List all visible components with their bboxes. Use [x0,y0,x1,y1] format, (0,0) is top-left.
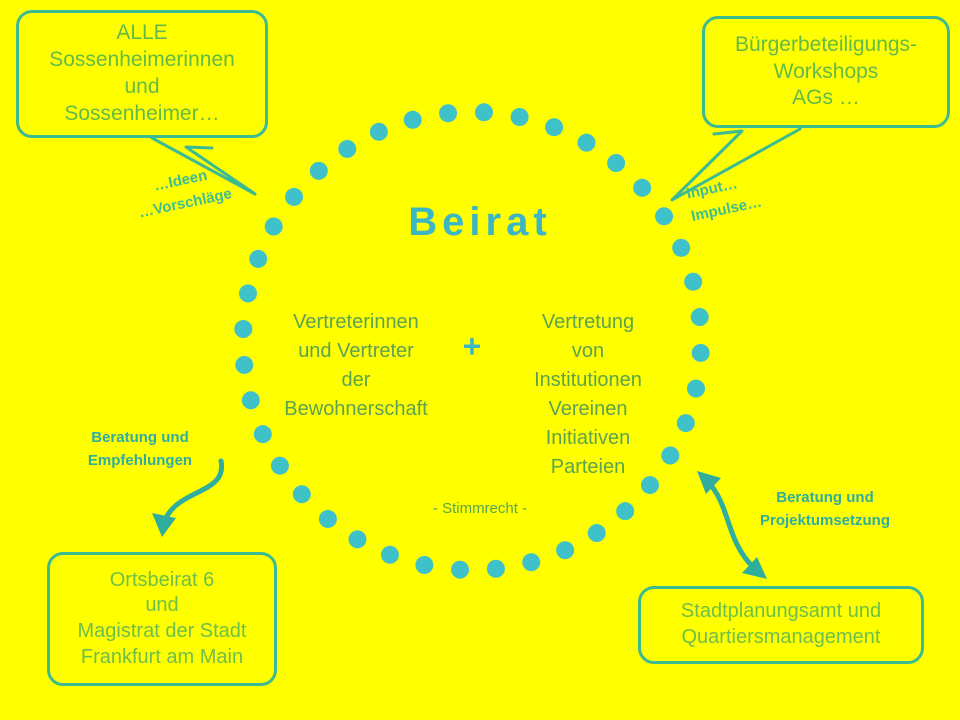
circle-dot [349,530,367,548]
arrow-beratung-projektumsetzung-head-down [742,557,767,579]
circle-dot [578,134,596,152]
circle-dot [511,108,529,126]
circle-dot [691,308,709,326]
callout-stadtplanung-text: Stadtplanungsamt und Quartiersmanagement [681,599,881,650]
circle-dot [370,123,388,141]
circle-dot [684,273,702,291]
circle-dot [254,425,272,443]
flow-label-beratung-empfehlungen: Beratung und Empfehlungen [70,427,210,472]
circle-dot [692,344,710,362]
circle-dot [381,546,399,564]
circle-dot [607,154,625,172]
callout-stadtplanungsamt[interactable]: Stadtplanungsamt und Quartiersmanagement [638,586,924,664]
circle-dot [239,284,257,302]
plus-icon: + [444,330,500,362]
circle-dot [522,553,540,571]
circle-dot [633,179,651,197]
diagram-canvas: ALLE Sossenheimerinnen und Sossenheimer…… [0,0,960,720]
circle-dot [404,111,422,129]
callout-ortsbeirat[interactable]: Ortsbeirat 6 und Magistrat der Stadt Fra… [47,552,277,686]
circle-dot [235,356,253,374]
circle-dot [234,320,252,338]
center-right-column: Vertretung von Institutionen Vereinen In… [500,308,676,482]
circle-dot [588,524,606,542]
circle-dot [451,561,469,579]
arrow-beratung-projektumsetzung-head-up [697,471,721,494]
circle-dot [415,556,433,574]
circle-dot [545,118,563,136]
callout-ortsbeirat-text: Ortsbeirat 6 und Magistrat der Stadt Fra… [78,568,247,670]
callout-workshops-text: Bürgerbeteiligungs- Workshops AGs … [735,32,917,113]
callout-alle-sossenheimer[interactable]: ALLE Sossenheimerinnen und Sossenheimer… [16,10,268,138]
circle-dot [487,560,505,578]
flow-label-beratung-projektumsetzung: Beratung und Projektumsetzung [740,487,910,532]
circle-dot [249,250,267,268]
circle-dot [677,414,695,432]
circle-dot [310,162,328,180]
circle-dot [556,541,574,559]
circle-dot [338,140,356,158]
callout-alle-text: ALLE Sossenheimerinnen und Sossenheimer… [49,20,235,128]
circle-dot [242,391,260,409]
circle-dot [475,103,493,121]
circle-dot [439,104,457,122]
center-left-column: Vertreterinnen und Vertreter der Bewohne… [268,308,444,424]
circle-dot [687,380,705,398]
callout-buergerbeteiligung[interactable]: Bürgerbeteiligungs- Workshops AGs … [702,16,950,128]
circle-dot [271,457,289,475]
